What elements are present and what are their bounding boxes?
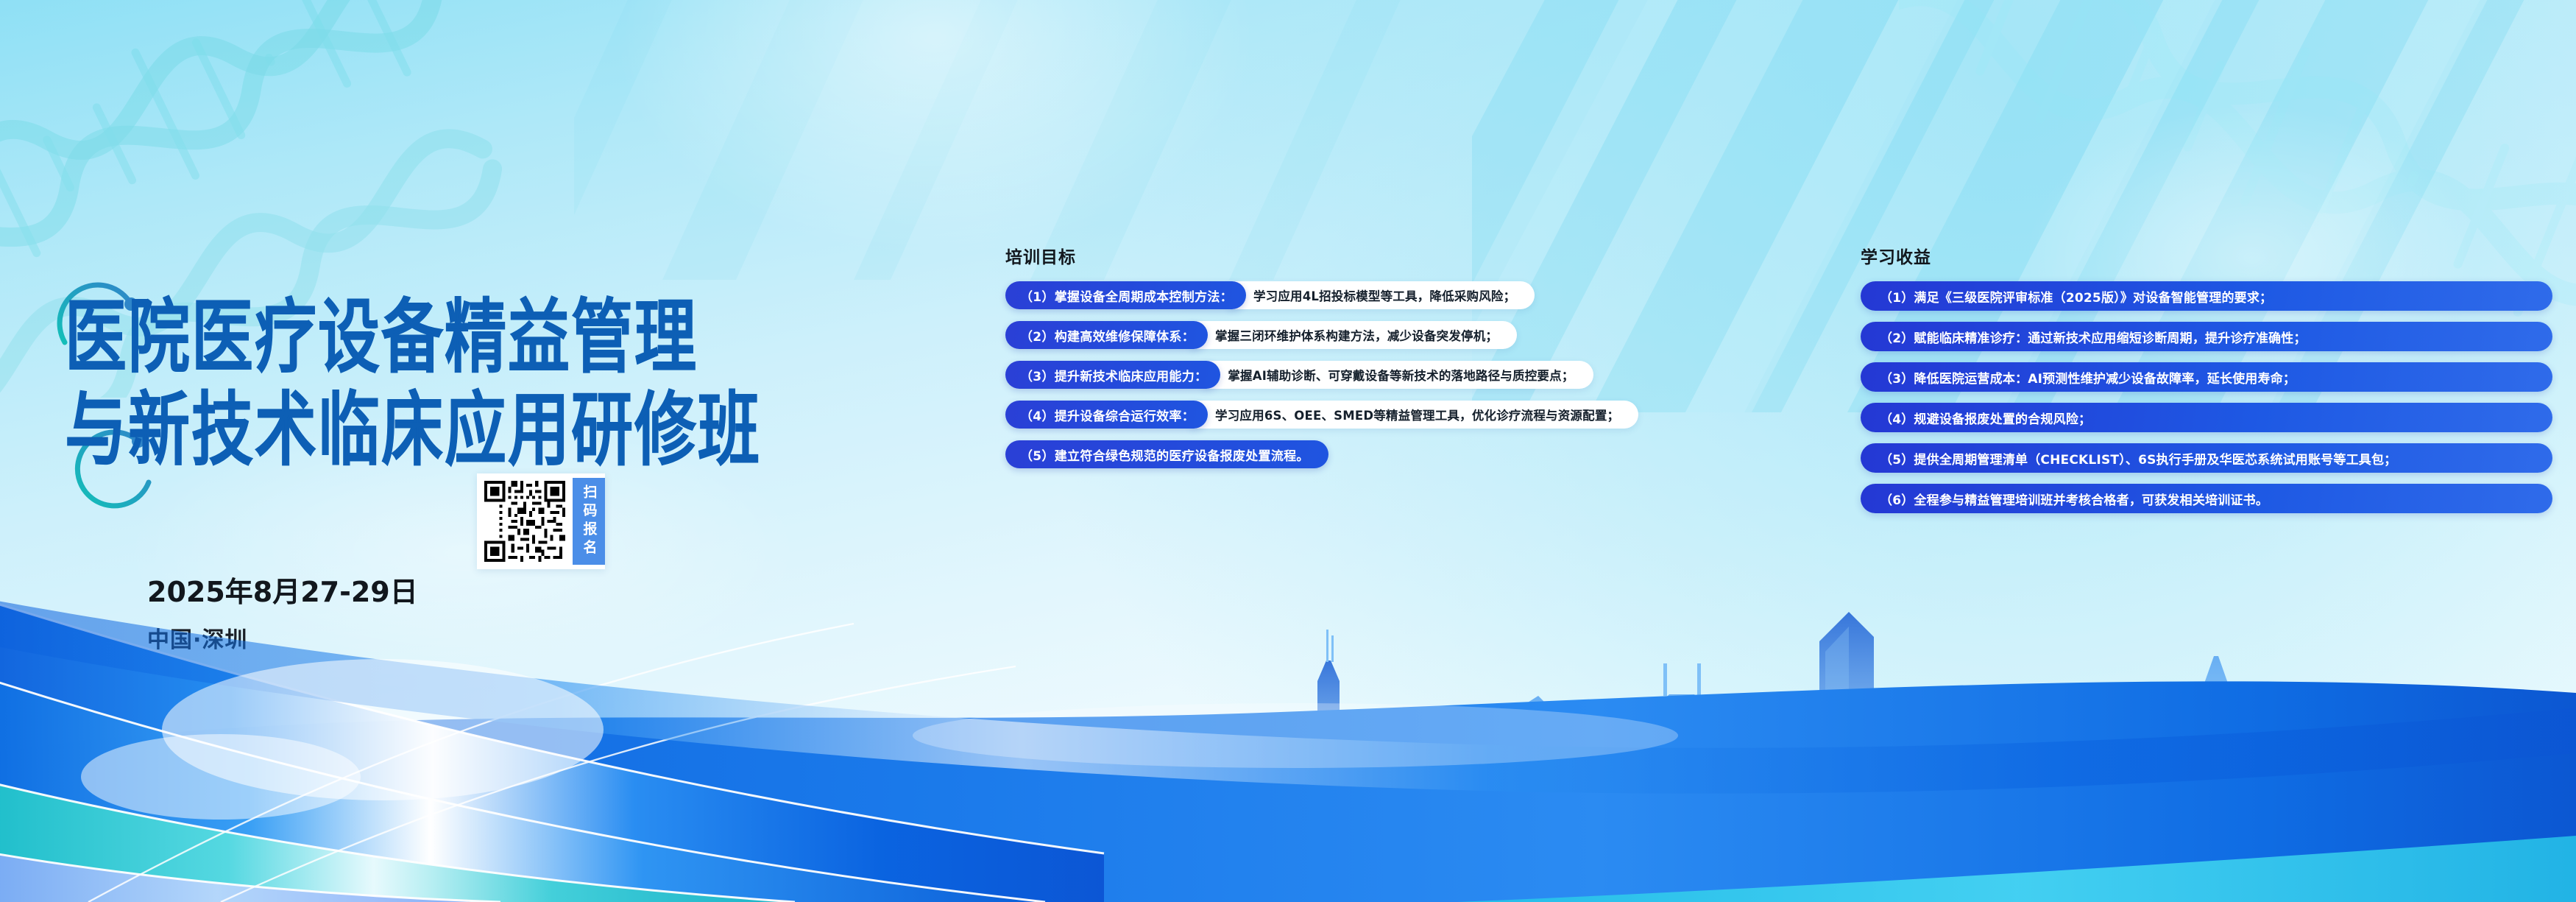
goal-row[interactable]: （2）构建高效维修保障体系： 掌握三闭环维护体系构建方法，减少设备突发停机； <box>1005 321 1786 349</box>
event-title: 医院医疗设备精益管理 与新技术临床应用研修班 <box>65 297 761 451</box>
benefit-row[interactable]: （6）全程参与精益管理培训班并考核合格者，可获发相关培训证书。 <box>1861 484 2552 513</box>
learning-benefits-column: 学习收益 （1）满足《三级医院评审标准（2025版）》对设备智能管理的要求； （… <box>1861 243 2552 524</box>
title-line-2: 与新技术临床应用研修班 <box>65 390 761 470</box>
goal-description: 学习应用6S、OEE、SMED等精益管理工具，优化诊疗流程与资源配置； <box>1190 401 1638 429</box>
benefit-row[interactable]: （4）规避设备报废处置的合规风险； <box>1861 403 2552 432</box>
benefit-row[interactable]: （5）提供全周期管理清单（CHECKLIST）、6S执行手册及华医芯系统试用账号… <box>1861 443 2552 473</box>
benefit-row[interactable]: （1）满足《三级医院评审标准（2025版）》对设备智能管理的要求； <box>1861 281 2552 311</box>
title-block: 医院医疗设备精益管理 与新技术临床应用研修班 2025年8月27-29日 中国·… <box>0 261 927 607</box>
qr-code-icon[interactable] <box>481 478 568 565</box>
benefit-row[interactable]: （3）降低医院运营成本：AI预测性维护减少设备故障率，延长使用寿命； <box>1861 362 2552 392</box>
title-line-1: 医院医疗设备精益管理 <box>65 297 761 377</box>
qr-caption-panel: 扫码报名 <box>573 478 605 565</box>
goal-row[interactable]: （1）掌握设备全周期成本控制方法： 学习应用4L招投标模型等工具，降低采购风险； <box>1005 281 1786 309</box>
goal-description: 掌握AI辅助诊断、可穿戴设备等新技术的落地路径与质控要点； <box>1203 361 1593 389</box>
event-banner: 医院医疗设备精益管理 与新技术临床应用研修班 2025年8月27-29日 中国·… <box>0 0 2576 902</box>
city-skyline-icon <box>876 593 2576 902</box>
training-goals-heading: 培训目标 <box>1005 243 1786 268</box>
training-goals-column: 培训目标 （1）掌握设备全周期成本控制方法： 学习应用4L招投标模型等工具，降低… <box>1005 243 1786 480</box>
learning-benefits-heading: 学习收益 <box>1861 243 2552 268</box>
qr-caption-text: 扫码报名 <box>582 485 596 558</box>
goal-row[interactable]: （3）提升新技术临床应用能力： 掌握AI辅助诊断、可穿戴设备等新技术的落地路径与… <box>1005 361 1786 389</box>
goal-label: （3）提升新技术临床应用能力： <box>1005 361 1220 389</box>
benefit-row[interactable]: （2）赋能临床精准诊疗：通过新技术应用缩短诊断周期，提升诊疗准确性； <box>1861 322 2552 351</box>
event-date: 2025年8月27-29日 <box>147 569 418 610</box>
goal-label: （5）建立符合绿色规范的医疗设备报废处置流程。 <box>1005 440 1328 468</box>
goal-row[interactable]: （5）建立符合绿色规范的医疗设备报废处置流程。 <box>1005 440 1786 468</box>
goal-description: 掌握三闭环维护体系构建方法，减少设备突发停机； <box>1190 321 1517 349</box>
event-city: 中国·深圳 <box>147 621 418 654</box>
glow-blob <box>604 0 1266 265</box>
goal-label: （4）提升设备综合运行效率： <box>1005 401 1208 429</box>
goal-description: 学习应用4L招投标模型等工具，降低采购风险； <box>1228 281 1535 309</box>
goal-row[interactable]: （4）提升设备综合运行效率： 学习应用6S、OEE、SMED等精益管理工具，优化… <box>1005 401 1786 429</box>
event-meta: 2025年8月27-29日 中国·深圳 <box>147 569 418 654</box>
goal-label: （1）掌握设备全周期成本控制方法： <box>1005 281 1246 309</box>
qr-registration-block[interactable]: 扫码报名 <box>477 473 605 569</box>
goal-label: （2）构建高效维修保障体系： <box>1005 321 1208 349</box>
data-mesh-decoration <box>243 681 2156 902</box>
diagonal-stripes-decoration-mid <box>574 0 1457 280</box>
